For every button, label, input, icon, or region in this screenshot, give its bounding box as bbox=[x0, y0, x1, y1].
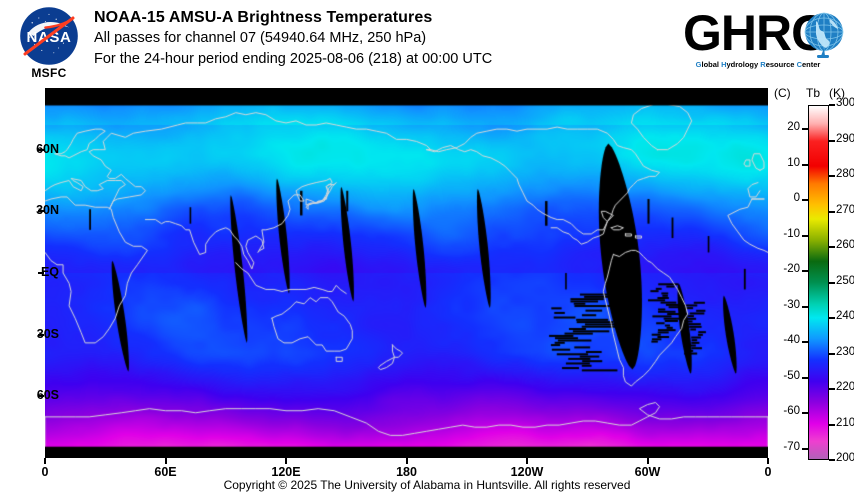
colorbar-label-celsius: 10 bbox=[772, 157, 800, 169]
colorbar-tick-left bbox=[802, 448, 808, 450]
ghrc-logo: GHRC Global Hydrology Resource Center bbox=[683, 6, 845, 80]
lon-label: 120W bbox=[511, 465, 544, 479]
lon-tick bbox=[406, 458, 408, 464]
lat-label: 30N bbox=[36, 203, 59, 217]
lon-tick bbox=[526, 458, 528, 464]
colorbar-label-celsius: 0 bbox=[772, 192, 800, 204]
colorbar-label-kelvin: 270 bbox=[836, 204, 854, 216]
colorbar-label-celsius: -40 bbox=[772, 334, 800, 346]
lon-tick bbox=[285, 458, 287, 464]
colorbar-tick-right bbox=[829, 175, 835, 177]
nasa-meatball-icon: NASA bbox=[19, 6, 79, 66]
colorbar-tick-left bbox=[802, 412, 808, 414]
colorbar-tick-left bbox=[802, 341, 808, 343]
colorbar-label-celsius: -60 bbox=[772, 405, 800, 417]
map-plot-area[interactable] bbox=[45, 88, 768, 458]
colorbar-tick-right bbox=[829, 353, 835, 355]
lon-tick bbox=[165, 458, 167, 464]
lat-label: 30S bbox=[37, 327, 59, 341]
colorbar-tick-left bbox=[802, 377, 808, 379]
colorbar-tick-left bbox=[802, 128, 808, 130]
colorbar-tick-right bbox=[829, 388, 835, 390]
lat-label: 60S bbox=[37, 388, 59, 402]
colorbar-tick-right bbox=[829, 140, 835, 142]
colorbar: (C) Tb (K) 30029028027026025024023022021… bbox=[772, 86, 854, 466]
lon-tick bbox=[767, 458, 769, 464]
colorbar-tick-right bbox=[829, 459, 835, 461]
colorbar-label-celsius: -70 bbox=[772, 441, 800, 453]
colorbar-tick-right bbox=[829, 104, 835, 106]
copyright-notice: Copyright © 2025 The University of Alaba… bbox=[0, 478, 854, 492]
colorbar-label-celsius: -10 bbox=[772, 228, 800, 240]
colorbar-label-kelvin: 300 bbox=[836, 97, 854, 109]
lon-label: 60E bbox=[154, 465, 176, 479]
colorbar-label-kelvin: 230 bbox=[836, 346, 854, 358]
colorbar-unit-celsius: (C) bbox=[774, 86, 791, 100]
colorbar-label-kelvin: 250 bbox=[836, 275, 854, 287]
colorbar-label-kelvin: 290 bbox=[836, 133, 854, 145]
brightness-temperature-heatmap[interactable] bbox=[45, 88, 768, 458]
lon-label: 180 bbox=[396, 465, 417, 479]
brightness-temperature-map-page: NASA MSFC NOAA-15 AMSU-A Brightness Temp… bbox=[0, 0, 854, 502]
colorbar-label-kelvin: 220 bbox=[836, 381, 854, 393]
colorbar-tick-left bbox=[802, 270, 808, 272]
lat-label: EQ bbox=[41, 265, 59, 279]
subtitle-period: For the 24-hour period ending 2025-08-06… bbox=[94, 49, 492, 70]
nasa-logo: NASA MSFC bbox=[13, 6, 85, 82]
page-title: NOAA-15 AMSU-A Brightness Temperatures bbox=[94, 8, 492, 28]
colorbar-gradient bbox=[808, 105, 829, 460]
lat-label: 60N bbox=[36, 142, 59, 156]
colorbar-tick-right bbox=[829, 282, 835, 284]
lon-tick bbox=[647, 458, 649, 464]
colorbar-tick-right bbox=[829, 211, 835, 213]
colorbar-label-celsius: 20 bbox=[772, 121, 800, 133]
ghrc-wordmark-icon: GHRC bbox=[683, 6, 845, 61]
nasa-center-label: MSFC bbox=[13, 66, 85, 80]
lon-label: 120E bbox=[271, 465, 300, 479]
colorbar-label-kelvin: 200 bbox=[836, 452, 854, 464]
subtitle-channel: All passes for channel 07 (54940.64 MHz,… bbox=[94, 28, 492, 49]
ghrc-tagline: Global Hydrology Resource Center bbox=[683, 60, 833, 69]
colorbar-tick-right bbox=[829, 317, 835, 319]
colorbar-tick-left bbox=[802, 164, 808, 166]
colorbar-tick-left bbox=[802, 199, 808, 201]
colorbar-label-kelvin: 260 bbox=[836, 239, 854, 251]
colorbar-tick-left bbox=[802, 235, 808, 237]
lon-label: 60W bbox=[635, 465, 661, 479]
colorbar-tick-right bbox=[829, 246, 835, 248]
colorbar-variable-label: Tb bbox=[806, 86, 820, 100]
colorbar-label-kelvin: 240 bbox=[836, 310, 854, 322]
colorbar-label-celsius: -50 bbox=[772, 370, 800, 382]
colorbar-label-kelvin: 210 bbox=[836, 417, 854, 429]
colorbar-label-kelvin: 280 bbox=[836, 168, 854, 180]
colorbar-label-celsius: -30 bbox=[772, 299, 800, 311]
title-block: NOAA-15 AMSU-A Brightness Temperatures A… bbox=[94, 8, 492, 70]
colorbar-tick-right bbox=[829, 424, 835, 426]
colorbar-tick-left bbox=[802, 306, 808, 308]
lon-label: 0 bbox=[42, 465, 49, 479]
colorbar-label-celsius: -20 bbox=[772, 263, 800, 275]
lon-tick bbox=[44, 458, 46, 464]
lon-label: 0 bbox=[765, 465, 772, 479]
